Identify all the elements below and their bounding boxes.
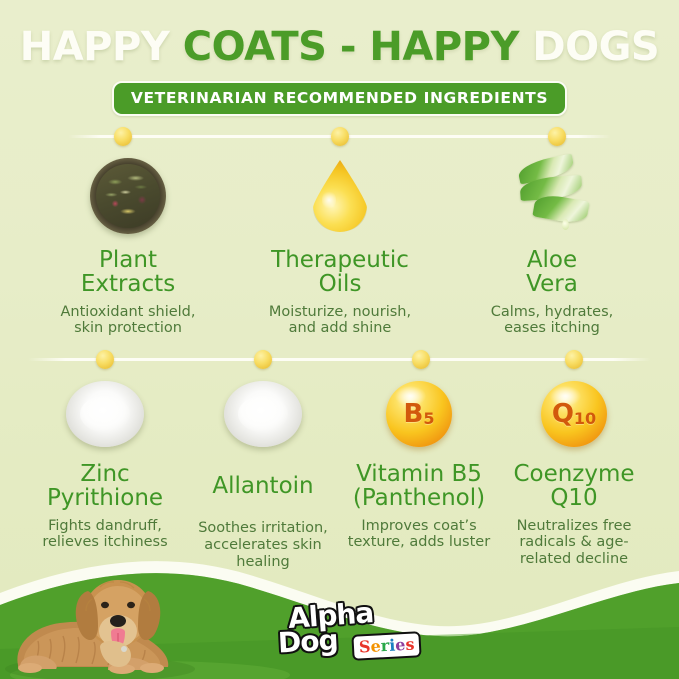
title-line-1: Therapeutic xyxy=(271,247,409,273)
desc-line-1: Soothes irritation, xyxy=(198,520,328,536)
ingredient-title: Zinc Pyrithione xyxy=(25,462,185,511)
divider-dot xyxy=(548,127,566,146)
ingredient-card-vitamin-b5: B5 Vitamin B5 (Panthenol) Improves coat’… xyxy=(339,372,499,551)
title-word-1: HAPPY xyxy=(20,24,170,70)
vet-recommended-badge: VETERINARIAN RECOMMENDED INGREDIENTS xyxy=(112,81,567,116)
desc-line-1: Neutralizes free xyxy=(517,518,632,534)
ingredient-description: Moisturize, nourish, and add shine xyxy=(240,304,440,337)
desc-line-1: Moisturize, nourish, xyxy=(269,304,411,320)
desc-line-1: Improves coat’s xyxy=(361,518,476,534)
title-line-1: Vitamin B5 xyxy=(356,461,482,487)
icon-slot: Q10 xyxy=(494,372,654,456)
brand-logo: Alpha Dog Series xyxy=(278,599,428,661)
ingredient-description: Improves coat’s texture, adds luster xyxy=(339,518,499,551)
vitamin-b5-pill-icon: B5 xyxy=(386,381,452,447)
desc-line-1: Fights dandruff, xyxy=(48,518,162,534)
title-line-2: Vera xyxy=(526,271,578,297)
title-line-1: Zinc xyxy=(80,461,129,487)
title-line-2: (Panthenol) xyxy=(353,485,485,511)
desc-line-2: eases itching xyxy=(504,320,600,336)
ingredient-description: Fights dandruff, relieves itchiness xyxy=(25,518,185,551)
title-line-2: Pyrithione xyxy=(47,485,163,511)
divider-dot xyxy=(114,127,132,146)
page-title: HAPPY COATS - HAPPY DOGS xyxy=(0,24,679,70)
title-line-1: Aloe xyxy=(527,247,577,273)
desc-line-2: skin protection xyxy=(74,320,182,336)
logo-word-dog: Dog xyxy=(277,623,338,659)
ingredient-card-zinc-pyrithione: Zinc Pyrithione Fights dandruff, relieve… xyxy=(25,372,185,551)
pill-subscript: 10 xyxy=(574,409,596,428)
icon-slot: B5 xyxy=(339,372,499,456)
desc-line-1: Calms, hydrates, xyxy=(491,304,614,320)
divider-dot xyxy=(412,350,430,369)
ingredient-title: Aloe Vera xyxy=(452,248,652,297)
ingredient-description: Antioxidant shield, skin protection xyxy=(28,304,228,337)
ingredient-title: Therapeutic Oils xyxy=(240,248,440,297)
divider-dot xyxy=(565,350,583,369)
title-line-2: Extracts xyxy=(81,271,175,297)
infographic-canvas: HAPPY COATS - HAPPY DOGS VETERINARIAN RE… xyxy=(0,0,679,679)
title-line-2: Q10 xyxy=(550,485,597,511)
icon-slot xyxy=(452,150,652,242)
ingredient-description: Calms, hydrates, eases itching xyxy=(452,304,652,337)
ingredient-title: Plant Extracts xyxy=(28,248,228,297)
ingredient-card-coenzyme-q10: Q10 Coenzyme Q10 Neutralizes free radica… xyxy=(494,372,654,568)
aloe-leaf-icon xyxy=(504,153,600,239)
desc-line-2: and add shine xyxy=(289,320,392,336)
icon-slot xyxy=(25,372,185,456)
desc-line-1: Antioxidant shield, xyxy=(61,304,196,320)
ingredient-card-therapeutic-oils: Therapeutic Oils Moisturize, nourish, an… xyxy=(240,150,440,337)
title-line-1: Plant xyxy=(99,247,157,273)
divider-line xyxy=(28,358,651,361)
oil-droplet-icon xyxy=(313,160,367,232)
divider-dot xyxy=(331,127,349,146)
title-word-2: COATS - xyxy=(183,24,356,70)
divider-dot xyxy=(96,350,114,369)
ingredient-title: Vitamin B5 (Panthenol) xyxy=(339,462,499,511)
ingredient-card-aloe-vera: Aloe Vera Calms, hydrates, eases itching xyxy=(452,150,652,337)
pill-letter: B xyxy=(404,399,424,429)
ingredient-title: Coenzyme Q10 xyxy=(494,462,654,511)
herb-bowl-icon xyxy=(90,158,166,234)
divider-dot xyxy=(254,350,272,369)
title-line-2: Oils xyxy=(319,271,362,297)
white-powder-icon xyxy=(66,381,144,447)
icon-slot xyxy=(240,150,440,242)
title-word-4: DOGS xyxy=(532,24,659,70)
title-line-1: Allantoin xyxy=(212,473,313,499)
title-line-1: Coenzyme xyxy=(513,461,634,487)
row-2-divider xyxy=(28,349,651,369)
row-1-divider xyxy=(68,126,611,146)
pill-letter: Q xyxy=(552,399,574,429)
ingredient-title: Allantoin xyxy=(183,474,343,498)
coenzyme-q10-pill-icon: Q10 xyxy=(541,381,607,447)
logo-word-series: Series xyxy=(351,631,422,661)
icon-slot xyxy=(183,372,343,456)
title-word-3: HAPPY xyxy=(369,24,519,70)
footer-banner: Alpha Dog Series xyxy=(0,549,679,679)
badge-container: VETERINARIAN RECOMMENDED INGREDIENTS xyxy=(0,81,679,116)
ingredient-card-allantoin: Allantoin Soothes irritation, accelerate… xyxy=(183,372,343,570)
icon-slot xyxy=(28,150,228,242)
pill-subscript: 5 xyxy=(423,409,434,428)
white-powder-icon xyxy=(224,381,302,447)
ingredient-card-plant-extracts: Plant Extracts Antioxidant shield, skin … xyxy=(28,150,228,337)
dog-photo xyxy=(0,569,205,679)
